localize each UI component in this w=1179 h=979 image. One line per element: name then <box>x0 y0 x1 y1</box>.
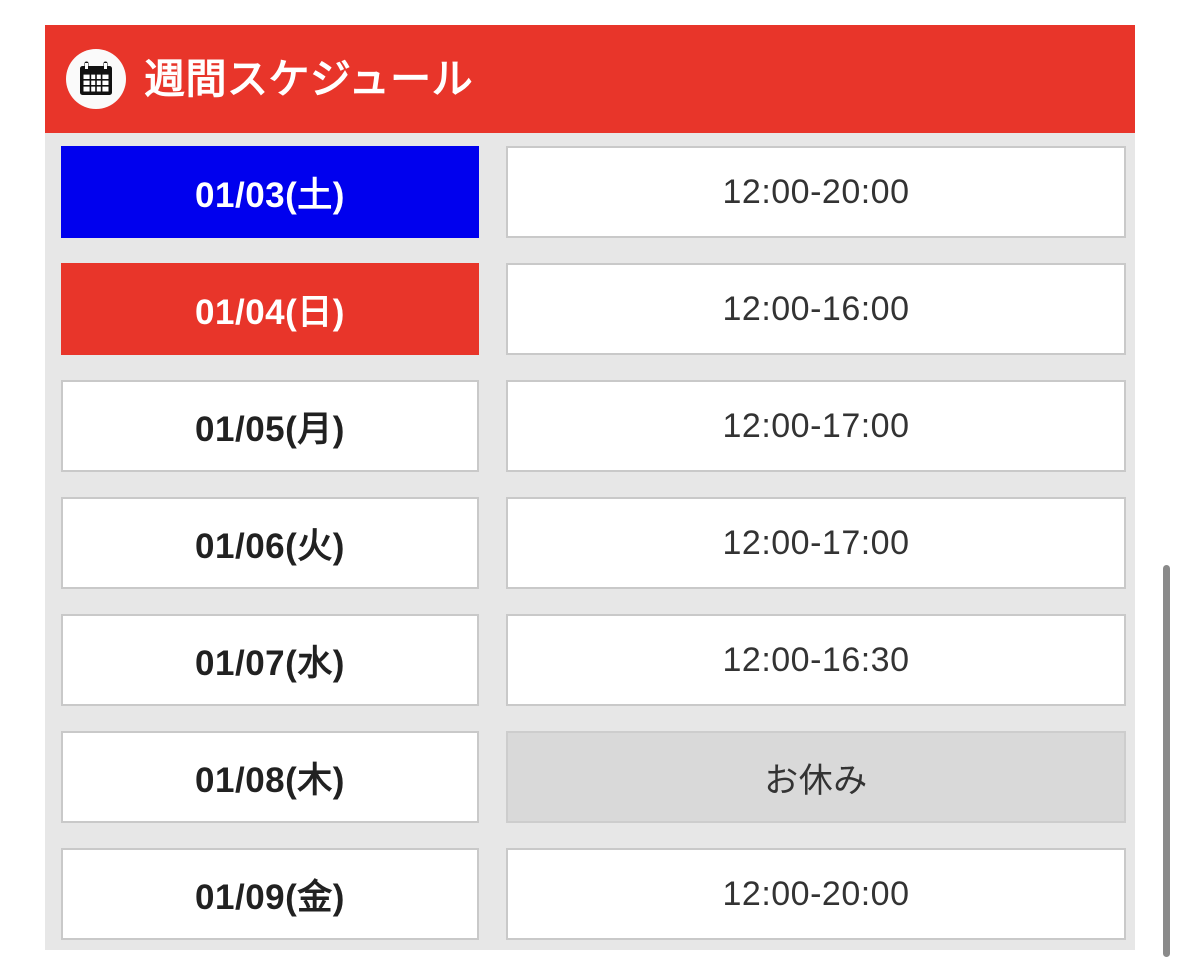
schedule-date-cell[interactable]: 01/09(金) <box>61 848 479 940</box>
schedule-date-cell[interactable]: 01/05(月) <box>61 380 479 472</box>
schedule-time-cell[interactable]: 12:00-16:00 <box>506 263 1126 355</box>
table-row: 01/09(金) 12:00-20:00 <box>45 848 1135 950</box>
schedule-date-cell[interactable]: 01/08(木) <box>61 731 479 823</box>
schedule-date-cell[interactable]: 01/07(水) <box>61 614 479 706</box>
schedule-time-cell[interactable]: 12:00-20:00 <box>506 848 1126 940</box>
table-row: 01/03(土) 12:00-20:00 <box>45 146 1135 263</box>
table-row: 01/04(日) 12:00-16:00 <box>45 263 1135 380</box>
schedule-list: 01/03(土) 12:00-20:00 01/04(日) 12:00-16:0… <box>45 133 1135 950</box>
schedule-date-cell[interactable]: 01/04(日) <box>61 263 479 355</box>
schedule-time-cell[interactable]: 12:00-17:00 <box>506 380 1126 472</box>
table-row: 01/05(月) 12:00-17:00 <box>45 380 1135 497</box>
table-row: 01/08(木) お休み <box>45 731 1135 848</box>
schedule-time-cell[interactable]: 12:00-16:30 <box>506 614 1126 706</box>
page-root: 週間スケジュール 01/03(土) 12:00-20:00 01/04(日) 1… <box>0 0 1179 979</box>
table-row: 01/07(水) 12:00-16:30 <box>45 614 1135 731</box>
schedule-day-off-cell[interactable]: お休み <box>506 731 1126 823</box>
weekly-schedule-card: 週間スケジュール 01/03(土) 12:00-20:00 01/04(日) 1… <box>45 25 1135 950</box>
schedule-time-cell[interactable]: 12:00-20:00 <box>506 146 1126 238</box>
card-header: 週間スケジュール <box>45 25 1135 133</box>
schedule-time-cell[interactable]: 12:00-17:00 <box>506 497 1126 589</box>
calendar-icon <box>66 49 126 109</box>
schedule-date-cell[interactable]: 01/03(土) <box>61 146 479 238</box>
scrollbar-thumb[interactable] <box>1163 565 1170 957</box>
page-title: 週間スケジュール <box>144 59 473 100</box>
table-row: 01/06(火) 12:00-17:00 <box>45 497 1135 614</box>
schedule-date-cell[interactable]: 01/06(火) <box>61 497 479 589</box>
